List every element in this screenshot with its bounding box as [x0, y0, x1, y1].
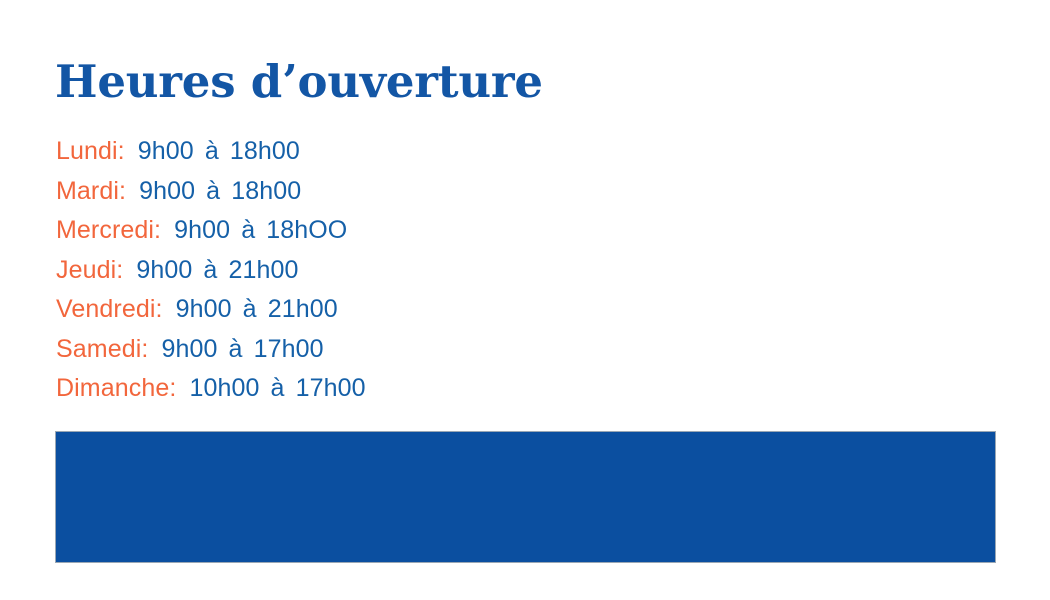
list-item: Vendredi: 9h00 à 21h00 — [56, 290, 676, 330]
hours-value: 9h00 à 21h00 — [176, 295, 338, 323]
day-label: Mardi: — [56, 177, 126, 205]
day-label: Lundi: — [56, 137, 125, 165]
hours-value: 10h00 à 17h00 — [189, 374, 365, 402]
list-item: Mercredi: 9h00 à 18hOO — [56, 211, 676, 251]
list-item: Mardi: 9h00 à 18h00 — [56, 172, 676, 212]
hours-value: 9h00 à 18hOO — [174, 216, 347, 244]
hours-value: 9h00 à 17h00 — [161, 335, 323, 363]
day-label: Mercredi: — [56, 216, 161, 244]
hours-value: 9h00 à 21h00 — [136, 256, 298, 284]
page-title: Heures d’ouverture — [55, 58, 543, 107]
list-item: Lundi: 9h00 à 18h00 — [56, 132, 676, 172]
list-item: Samedi: 9h00 à 17h00 — [56, 330, 676, 370]
day-label: Dimanche: — [56, 374, 176, 402]
opening-hours-list: Lundi: 9h00 à 18h00 Mardi: 9h00 à 18h00 … — [56, 132, 676, 409]
list-item: Jeudi: 9h00 à 21h00 — [56, 251, 676, 291]
day-label: Jeudi: — [56, 256, 123, 284]
day-label: Vendredi: — [56, 295, 163, 323]
day-label: Samedi: — [56, 335, 148, 363]
list-item: Dimanche: 10h00 à 17h00 — [56, 369, 676, 409]
slide-canvas: Heures d’ouverture Lundi: 9h00 à 18h00 M… — [0, 0, 1050, 600]
hours-value: 9h00 à 18h00 — [138, 137, 300, 165]
content-placeholder-block[interactable] — [55, 431, 996, 563]
hours-value: 9h00 à 18h00 — [139, 177, 301, 205]
